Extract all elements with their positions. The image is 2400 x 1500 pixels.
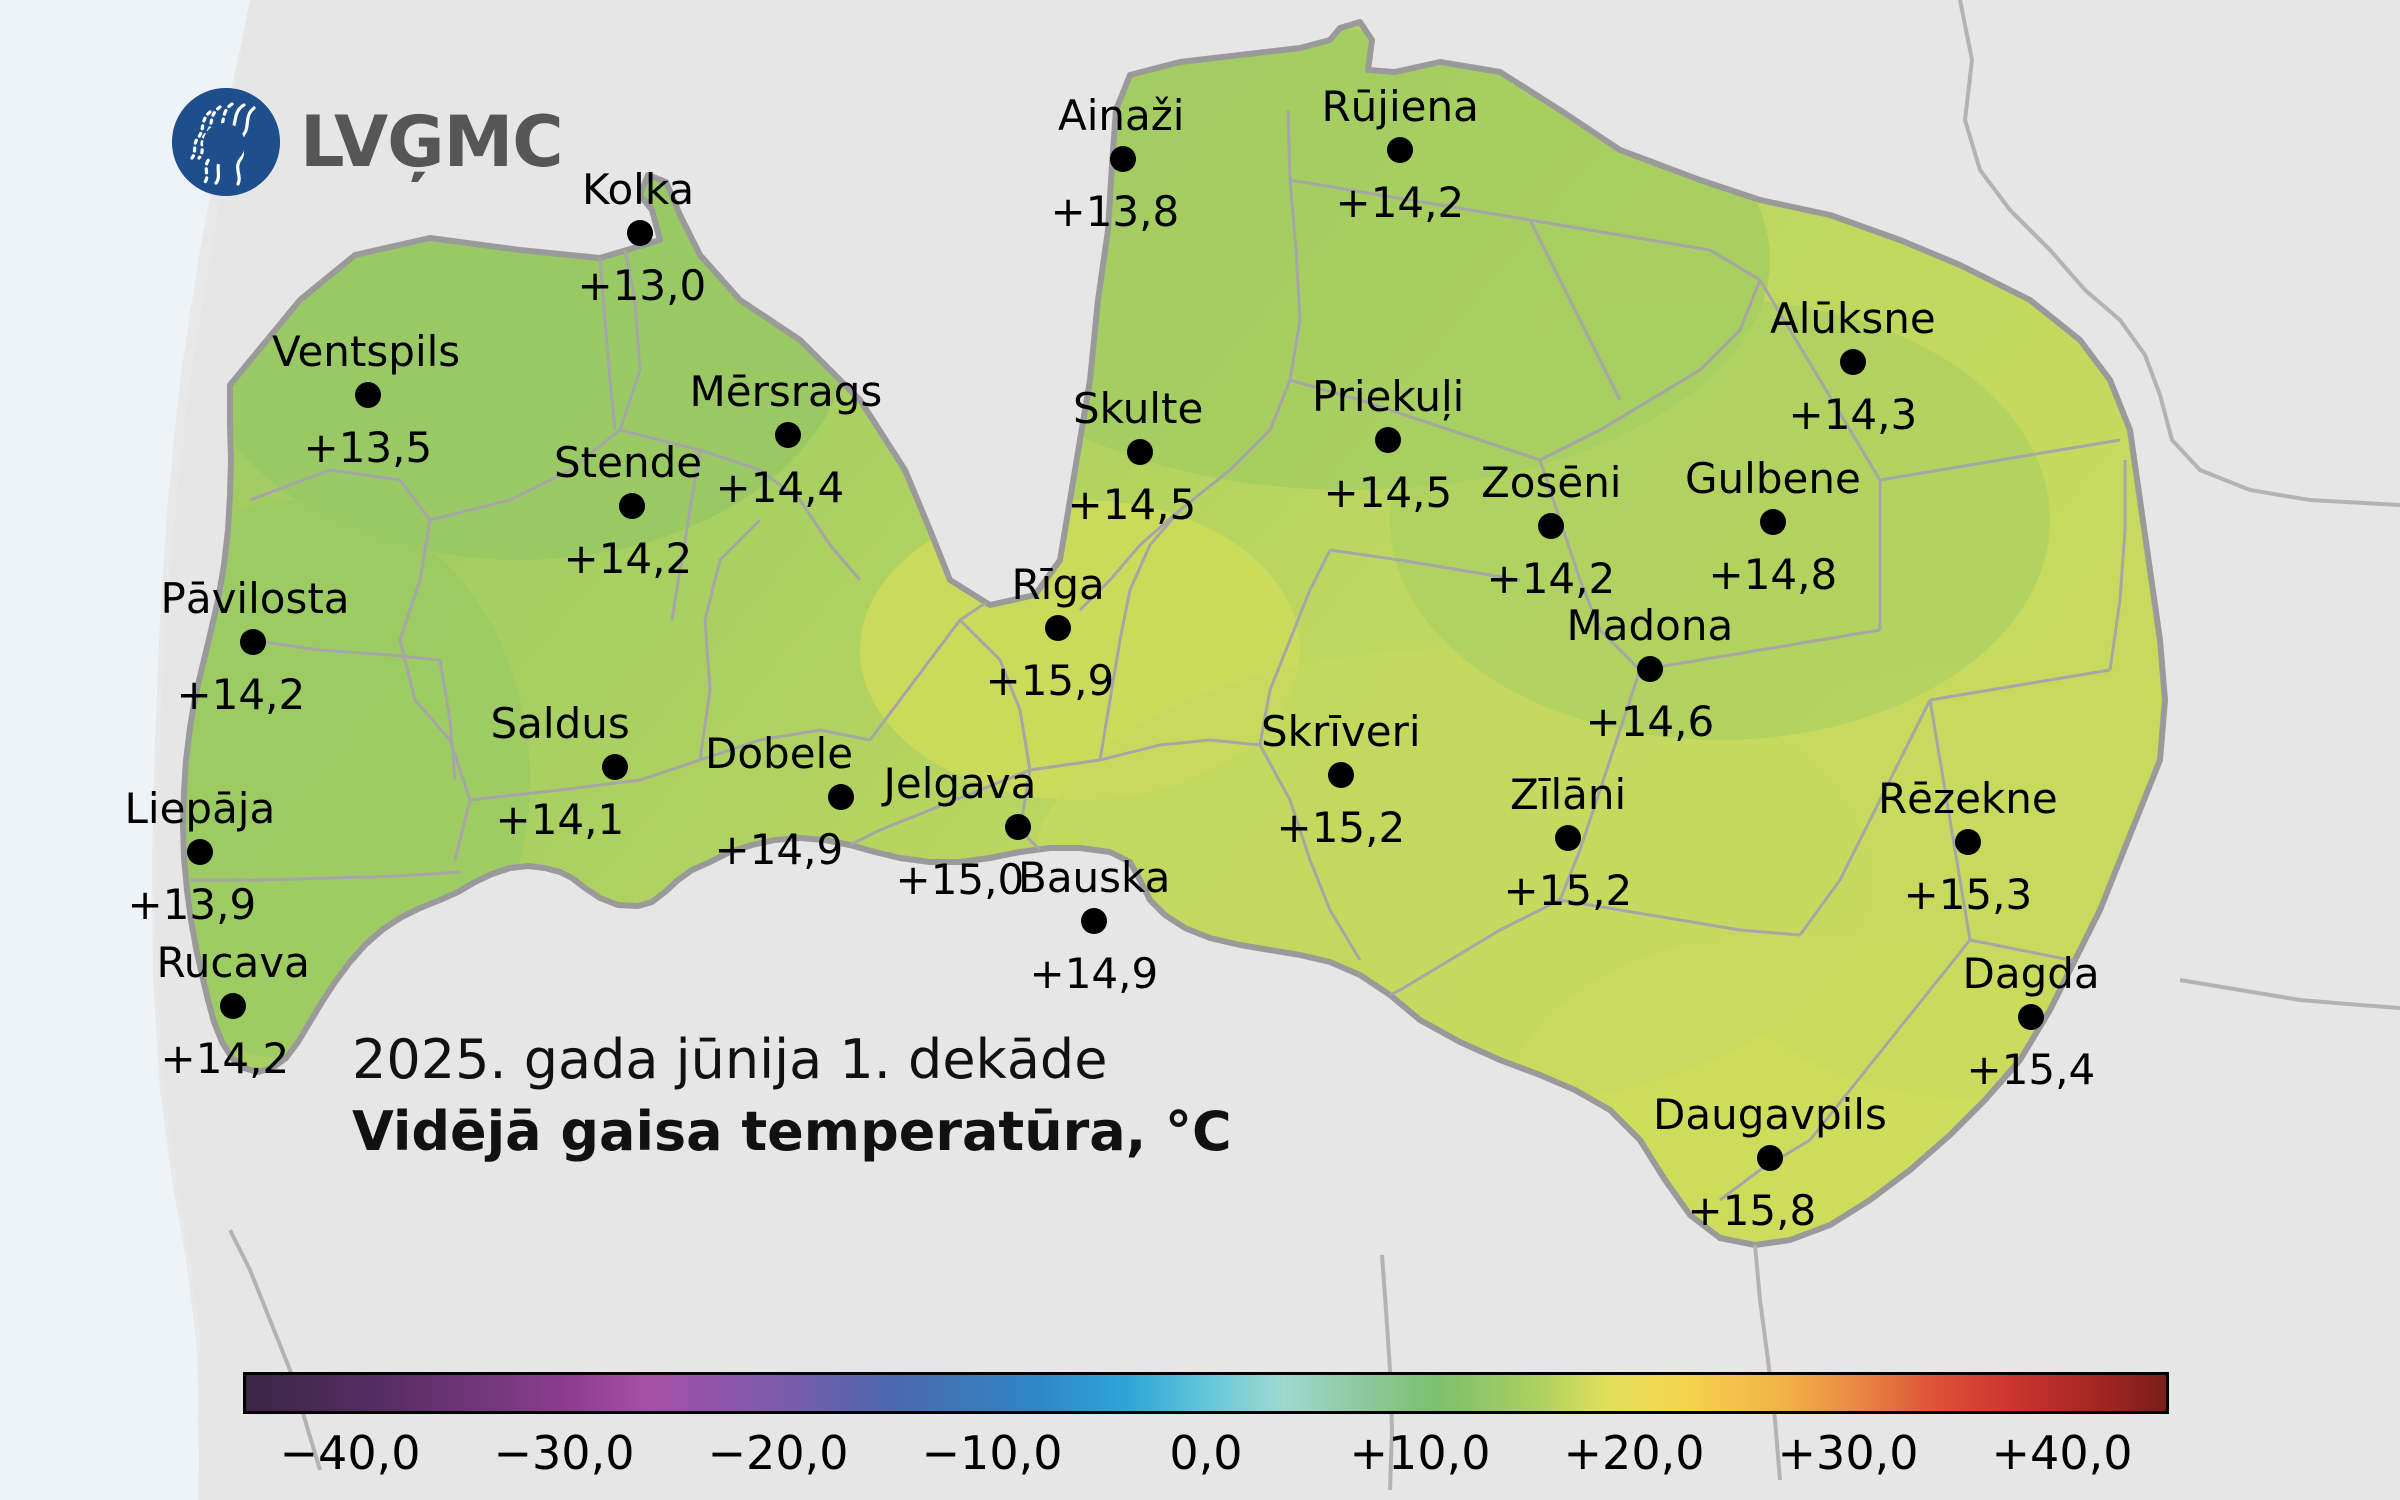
station-value-label: +13,0 <box>578 265 707 307</box>
station-value-label: +14,1 <box>496 799 625 841</box>
station-dot-icon <box>355 382 381 408</box>
station-name-label: Gulbene <box>1685 458 1861 500</box>
temperature-colorbar: −40,0−30,0−20,0−10,00,0+10,0+20,0+30,0+4… <box>243 1372 2169 1490</box>
station-dot-icon <box>1555 825 1581 851</box>
station-name-label: Rucava <box>157 942 310 984</box>
station-value-label: +14,3 <box>1789 394 1918 436</box>
station-name-label: Saldus <box>491 703 630 745</box>
station-value-label: +14,9 <box>1030 953 1159 995</box>
station-value-label: +13,9 <box>128 884 257 926</box>
station-dot-icon <box>1045 615 1071 641</box>
station-value-label: +14,2 <box>177 674 306 716</box>
station-name-label: Daugavpils <box>1653 1094 1887 1136</box>
colorbar-gradient <box>243 1372 2169 1414</box>
station-value-label: +14,2 <box>1487 558 1616 600</box>
map-title-block: 2025. gada jūnija 1. dekāde Vidējā gaisa… <box>352 1028 1232 1163</box>
station-dot-icon <box>1387 137 1413 163</box>
station-dot-icon <box>1757 1145 1783 1171</box>
station-value-label: +15,4 <box>1967 1049 2096 1091</box>
station-name-label: Priekuļi <box>1312 376 1464 418</box>
station-value-label: +15,0 <box>896 859 1025 901</box>
station-name-label: Skrīveri <box>1261 711 1421 753</box>
colorbar-tick-label: 0,0 <box>1169 1426 1242 1480</box>
station-dot-icon <box>1005 814 1031 840</box>
map-period-title: 2025. gada jūnija 1. dekāde <box>352 1028 1232 1092</box>
station-value-label: +14,5 <box>1324 472 1453 514</box>
station-value-label: +15,2 <box>1504 870 1633 912</box>
station-name-label: Mērsrags <box>690 371 883 413</box>
colorbar-tick-label: +20,0 <box>1564 1426 1705 1480</box>
station-dot-icon <box>1637 656 1663 682</box>
station-dot-icon <box>1760 509 1786 535</box>
station-dot-icon <box>775 422 801 448</box>
station-name-label: Rēzekne <box>1878 778 2058 820</box>
station-value-label: +14,9 <box>715 829 844 871</box>
station-name-label: Ventspils <box>272 331 460 373</box>
station-name-label: Rūjiena <box>1322 86 1479 128</box>
lvgmc-circular-wave-logo-icon <box>172 88 280 196</box>
station-name-label: Zosēni <box>1481 462 1621 504</box>
station-name-label: Ainaži <box>1058 95 1184 137</box>
station-value-label: +15,8 <box>1688 1190 1817 1232</box>
station-name-label: Kolka <box>582 169 694 211</box>
station-value-label: +13,5 <box>304 427 433 469</box>
weather-map-figure: LVĢMC Kolka+13,0Ventspils+13,5Mērsrags+1… <box>0 0 2400 1500</box>
colorbar-tick-label: −40,0 <box>280 1426 421 1480</box>
station-value-label: +14,4 <box>716 467 845 509</box>
colorbar-tick-label: +40,0 <box>1992 1426 2133 1480</box>
station-value-label: +14,5 <box>1068 484 1197 526</box>
station-dot-icon <box>619 493 645 519</box>
lvgmc-wordmark: LVĢMC <box>300 107 563 177</box>
station-name-label: Liepāja <box>125 788 276 830</box>
colorbar-tick-label: −10,0 <box>922 1426 1063 1480</box>
latvia-temperature-map <box>0 0 2400 1500</box>
station-value-label: +14,6 <box>1586 701 1715 743</box>
station-dot-icon <box>1840 349 1866 375</box>
colorbar-tick-labels: −40,0−30,0−20,0−10,00,0+10,0+20,0+30,0+4… <box>243 1420 2169 1490</box>
station-dot-icon <box>1110 146 1136 172</box>
station-value-label: +15,2 <box>1277 807 1406 849</box>
station-dot-icon <box>1127 439 1153 465</box>
station-name-label: Stende <box>554 442 702 484</box>
station-value-label: +14,2 <box>564 538 693 580</box>
station-dot-icon <box>627 220 653 246</box>
station-name-label: Madona <box>1567 605 1734 647</box>
station-dot-icon <box>602 754 628 780</box>
map-variable-title: Vidējā gaisa temperatūra, °C <box>352 1100 1232 1164</box>
station-dot-icon <box>1955 829 1981 855</box>
station-dot-icon <box>1081 908 1107 934</box>
station-dot-icon <box>187 839 213 865</box>
station-name-label: Rīga <box>1012 564 1105 606</box>
station-name-label: Dobele <box>705 733 853 775</box>
colorbar-tick-label: +30,0 <box>1778 1426 1919 1480</box>
colorbar-tick-label: +10,0 <box>1350 1426 1491 1480</box>
station-name-label: Bauska <box>1018 857 1170 899</box>
station-value-label: +14,2 <box>161 1038 290 1080</box>
station-value-label: +14,8 <box>1709 554 1838 596</box>
station-value-label: +13,8 <box>1051 191 1180 233</box>
station-value-label: +15,9 <box>986 660 1115 702</box>
lvgmc-logo: LVĢMC <box>172 88 563 196</box>
station-dot-icon <box>2018 1004 2044 1030</box>
station-name-label: Jelgava <box>884 763 1037 805</box>
colorbar-tick-label: −30,0 <box>494 1426 635 1480</box>
station-dot-icon <box>1538 513 1564 539</box>
station-name-label: Skulte <box>1073 388 1203 430</box>
station-dot-icon <box>1375 427 1401 453</box>
station-dot-icon <box>1328 762 1354 788</box>
station-value-label: +15,3 <box>1904 874 2033 916</box>
station-dot-icon <box>240 629 266 655</box>
station-name-label: Dagda <box>1963 953 2100 995</box>
station-name-label: Zīlāni <box>1510 774 1626 816</box>
station-dot-icon <box>220 993 246 1019</box>
colorbar-tick-label: −20,0 <box>708 1426 849 1480</box>
station-dot-icon <box>828 784 854 810</box>
station-name-label: Alūksne <box>1770 298 1936 340</box>
station-name-label: Pāvilosta <box>161 578 350 620</box>
station-value-label: +14,2 <box>1336 182 1465 224</box>
